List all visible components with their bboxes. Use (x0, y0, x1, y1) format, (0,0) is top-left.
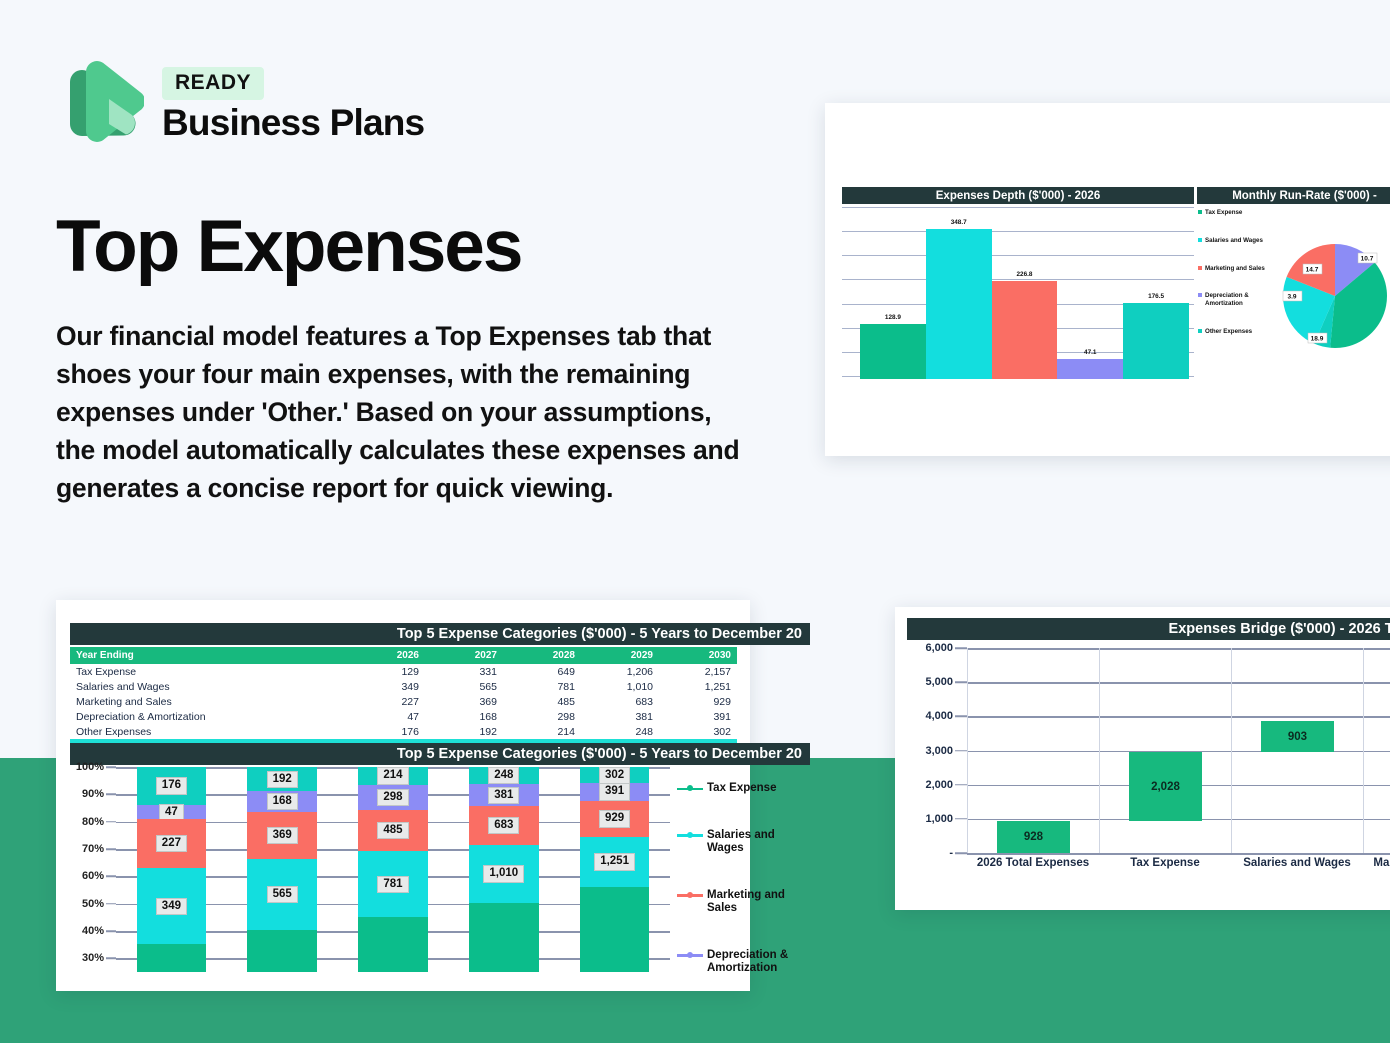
segment-value-label: 565 (267, 886, 298, 903)
stacked-bar: 214298485781 (358, 767, 428, 972)
stacked-series: 1764722734919216836956521429848578124838… (116, 767, 670, 972)
table-cell: 2,157 (659, 664, 737, 679)
table-col-header: 2027 (425, 647, 503, 664)
stacked-bar-chart: 100%90%80%70%60%50%40%30% 17647227349192… (70, 767, 670, 989)
segment-value-label: 176 (156, 777, 187, 794)
stack-segment: 369 (247, 812, 317, 859)
waterfall-bar: 903 (1261, 721, 1334, 752)
y-tick-label: 40% (82, 925, 104, 937)
stack-segment: 227 (137, 819, 207, 868)
y-tick (955, 647, 967, 649)
pie-data-label: 18.9 (1308, 333, 1327, 343)
row-label: Tax Expense (70, 664, 347, 679)
table-col-header: Year Ending (70, 647, 347, 664)
bar (860, 324, 926, 379)
pie-data-label: 10.7 (1358, 253, 1377, 263)
y-tick (106, 876, 116, 878)
y-tick-label: 1,000 (925, 813, 953, 825)
panel-title-stacked-chart: Top 5 Expense Categories ($'000) - 5 Yea… (70, 743, 810, 765)
expenses-bridge-card: Expenses Bridge ($'000) - 2026 Total Exp… (895, 607, 1390, 910)
legend-swatch (1198, 266, 1202, 270)
y-tick-label: 3,000 (925, 745, 953, 757)
stack-segment: 683 (469, 806, 539, 845)
stack-segment: 391 (580, 783, 650, 800)
segment-value-label: 168 (267, 793, 298, 810)
y-tick (106, 903, 116, 905)
segment-value-label: 391 (599, 783, 630, 800)
pie-data-label: 14.7 (1303, 264, 1322, 274)
segment-value-label: 1,010 (483, 865, 524, 882)
y-tick (955, 750, 967, 752)
waterfall-bar: 2,028 (1129, 752, 1202, 821)
table-cell: 391 (659, 709, 737, 724)
waterfall-column: 702 (1363, 648, 1390, 853)
table-cell: 369 (425, 694, 503, 709)
legend-item: Marketing and Sales (1198, 265, 1273, 273)
stack-segment: 349 (137, 868, 207, 944)
y-tick (955, 784, 967, 786)
table-cell: 298 (503, 709, 581, 724)
legend-label: Salaries and Wages (1205, 237, 1263, 245)
y-tick (106, 958, 116, 960)
y-tick-label: 5,000 (925, 676, 953, 688)
table-cell: 649 (503, 664, 581, 679)
x-tick-label: Tax Expense (1099, 857, 1231, 869)
row-label: Other Expenses (70, 724, 347, 739)
svg-text:18.9: 18.9 (1311, 336, 1324, 343)
svg-text:14.7: 14.7 (1306, 267, 1319, 274)
segment-value-label: 349 (156, 898, 187, 915)
bar-value-label: 47.1 (1084, 349, 1096, 356)
stack-segment (358, 917, 428, 972)
table-cell: 929 (659, 694, 737, 709)
stacked-column: 2483816831,010 (448, 767, 559, 972)
waterfall-column: 928 (967, 648, 1099, 853)
table-header-row: Year Ending20262027202820292030 (70, 647, 737, 664)
y-tick-label: 2,000 (925, 779, 953, 791)
legend-item: Salaries and Wages (1198, 237, 1273, 245)
x-tick-label: 2026 Total Expenses (967, 857, 1099, 869)
stack-segment: 176 (137, 767, 207, 805)
segment-value-label: 781 (377, 876, 408, 893)
legend-swatch (1198, 238, 1202, 242)
segment-value-label: 227 (156, 835, 187, 852)
bar-value-label: 128.9 (885, 314, 901, 321)
stacked-column: 192168369565 (227, 767, 338, 972)
bar-value-label: 928 (1024, 831, 1043, 843)
table-cell: 248 (581, 724, 659, 739)
svg-text:3.9: 3.9 (1287, 294, 1296, 301)
chart-legend: Tax ExpenseSalaries and WagesMarketing a… (1198, 209, 1273, 356)
bar-column: 47.1 (1057, 207, 1123, 379)
stacked-bar: 3023919291,251 (580, 767, 650, 972)
bar-column: 176.5 (1123, 207, 1189, 379)
stack-segment: 47 (137, 805, 207, 819)
stack-segment (247, 930, 317, 972)
panel-title-expenses-bridge: Expenses Bridge ($'000) - 2026 Total Exp… (907, 618, 1390, 640)
brand-logo: READY Business Plans (56, 58, 424, 153)
row-label: Depreciation & Amortization (70, 709, 347, 724)
stack-segment: 565 (247, 859, 317, 930)
stacked-column: 17647227349 (116, 767, 227, 972)
segment-value-label: 298 (377, 789, 408, 806)
y-tick (955, 716, 967, 718)
legend-label: Marketing and Sales (1205, 265, 1265, 273)
svg-text:10.7: 10.7 (1361, 256, 1374, 263)
y-tick-label: 100% (76, 761, 104, 773)
table-cell: 214 (503, 724, 581, 739)
legend-label: Depreciation & Amortization (707, 949, 792, 976)
y-tick-label: 30% (82, 952, 104, 964)
segment-value-label: 302 (599, 767, 630, 784)
row-label: Marketing and Sales (70, 694, 347, 709)
row-label: Salaries and Wages (70, 679, 347, 694)
stack-segment: 168 (247, 791, 317, 812)
stack-segment: 485 (358, 810, 428, 851)
y-tick-label: - (949, 847, 953, 859)
waterfall-column: 903 (1231, 648, 1363, 853)
chart-legend: Tax ExpenseSalaries and WagesMarketing a… (677, 782, 792, 1009)
stacked-column: 3023919291,251 (559, 767, 670, 972)
table-col-header: 2028 (503, 647, 581, 664)
expenses-depth-bar-chart: 128.9348.7226.847.1176.5 (842, 207, 1194, 379)
stacked-column: 214298485781 (338, 767, 449, 972)
table-row: Tax Expense1293316491,2062,157 (70, 664, 737, 679)
table-cell: 331 (425, 664, 503, 679)
bar-value-label: 2,028 (1151, 781, 1180, 793)
legend-item: Tax Expense (1198, 209, 1273, 217)
panel-title-monthly-run-rate: Monthly Run-Rate ($'000) - (1197, 187, 1390, 204)
pie-data-label: 3.9 (1283, 291, 1302, 301)
table-row: Salaries and Wages3495657811,0101,251 (70, 679, 737, 694)
stack-segment (137, 944, 207, 972)
table-cell: 47 (347, 709, 425, 724)
y-tick-label: 4,000 (925, 710, 953, 722)
legend-item: Tax Expense (677, 782, 792, 796)
legend-item: Salaries and Wages (677, 829, 792, 856)
segment-value-label: 381 (488, 787, 519, 804)
stack-segment: 298 (358, 785, 428, 810)
y-axis-labels: 100%90%80%70%60%50%40%30% (70, 767, 116, 972)
y-tick-label: 50% (82, 898, 104, 910)
table-col-header: 2029 (581, 647, 659, 664)
table-cell: 1,206 (581, 664, 659, 679)
table-cell: 302 (659, 724, 737, 739)
waterfall-chart: 6,0005,0004,0003,0002,0001,000- 9282,028… (907, 648, 1390, 898)
bar (1123, 303, 1189, 379)
stacked-bar: 2483816831,010 (469, 767, 539, 972)
brand-name: Business Plans (162, 102, 424, 144)
waterfall-bar: 928 (997, 821, 1070, 853)
legend-swatch (1198, 329, 1202, 333)
y-tick (955, 852, 967, 854)
y-tick (955, 681, 967, 683)
panel-title-expenses-depth: Expenses Depth ($'000) - 2026 (842, 187, 1194, 204)
y-axis-labels: 6,0005,0004,0003,0002,0001,000- (907, 648, 967, 853)
legend-item: Depreciation & Amortization (1198, 292, 1273, 308)
table-col-header: 2026 (347, 647, 425, 664)
bar (926, 229, 992, 379)
bar-value-label: 903 (1288, 731, 1307, 743)
stack-segment: 214 (358, 767, 428, 785)
panel-title-table: Top 5 Expense Categories ($'000) - 5 Yea… (70, 623, 810, 645)
bar-value-label: 176.5 (1148, 293, 1164, 300)
table-row: Other Expenses176192214248302 (70, 724, 737, 739)
table-row: Depreciation & Amortization4716829838139… (70, 709, 737, 724)
legend-label: Marketing and Sales (707, 889, 792, 916)
legend-label: Other Expenses (1205, 328, 1252, 336)
y-tick-label: 60% (82, 870, 104, 882)
y-tick (955, 818, 967, 820)
table-col-header: 2030 (659, 647, 737, 664)
segment-value-label: 485 (377, 822, 408, 839)
x-tick-label: Marketing and Sales (1363, 857, 1390, 869)
segment-value-label: 214 (377, 767, 408, 784)
monthly-run-rate-pie-chart: 10.714.73.918.9 (1279, 231, 1390, 366)
legend-item: Depreciation & Amortization (677, 949, 792, 976)
legend-label: Tax Expense (1205, 209, 1242, 217)
bar-column: 226.8 (992, 207, 1058, 379)
table-cell: 168 (425, 709, 503, 724)
stack-segment: 781 (358, 851, 428, 917)
bar-column: 128.9 (860, 207, 926, 379)
legend-label: Salaries and Wages (707, 829, 792, 856)
stacked-bar: 17647227349 (137, 767, 207, 972)
y-tick-label: 6,000 (925, 642, 953, 654)
bar (992, 281, 1058, 379)
y-tick (106, 821, 116, 823)
segment-value-label: 248 (488, 767, 519, 784)
table-cell: 1,010 (581, 679, 659, 694)
bar-value-label: 226.8 (1016, 271, 1032, 278)
table-cell: 683 (581, 694, 659, 709)
legend-label: Tax Expense (707, 782, 776, 796)
table-cell: 349 (347, 679, 425, 694)
legend-label: Depreciation & Amortization (1205, 292, 1273, 308)
page-body-text: Our financial model features a Top Expen… (56, 318, 756, 507)
y-tick (106, 848, 116, 850)
table-row: Marketing and Sales227369485683929 (70, 694, 737, 709)
y-tick (106, 766, 116, 768)
table-cell: 176 (347, 724, 425, 739)
stack-segment: 1,010 (469, 845, 539, 903)
y-tick-label: 90% (82, 788, 104, 800)
stack-segment: 929 (580, 801, 650, 838)
x-axis-labels: 2026 Total ExpensesTax ExpenseSalaries a… (967, 857, 1390, 869)
table-cell: 129 (347, 664, 425, 679)
bar-series: 128.9348.7226.847.1176.5 (860, 207, 1189, 379)
legend-item: Marketing and Sales (677, 889, 792, 916)
waterfall-column: 2,028 (1099, 648, 1231, 853)
table-cell: 227 (347, 694, 425, 709)
table-cell: 1,251 (659, 679, 737, 694)
legend-swatch (1198, 293, 1202, 297)
legend-marker (677, 783, 703, 794)
stack-segment (580, 887, 650, 972)
stack-segment (469, 903, 539, 972)
table-cell: 485 (503, 694, 581, 709)
bar (1057, 359, 1123, 379)
plot-area: 1764722734919216836956521429848578124838… (116, 767, 670, 972)
top-panel-titles: Expenses Depth ($'000) - 2026 Monthly Ru… (842, 187, 1390, 204)
segment-value-label: 929 (599, 810, 630, 827)
segment-value-label: 369 (267, 827, 298, 844)
top5-expense-categories-card: Top 5 Expense Categories ($'000) - 5 Yea… (56, 600, 750, 991)
ready-badge: READY (162, 67, 264, 100)
stack-segment: 192 (247, 767, 317, 791)
stack-segment: 1,251 (580, 837, 650, 886)
legend-marker (677, 890, 703, 901)
plot-area: 9282,028903702 (967, 648, 1390, 853)
stack-segment: 381 (469, 784, 539, 806)
bar-column: 348.7 (926, 207, 992, 379)
stacked-bar: 192168369565 (247, 767, 317, 972)
waterfall-bars: 9282,028903702 (967, 648, 1390, 853)
x-tick-label: Salaries and Wages (1231, 857, 1363, 869)
segment-value-label: 683 (488, 817, 519, 834)
legend-marker (677, 950, 703, 961)
table-cell: 565 (425, 679, 503, 694)
expense-table: Year Ending20262027202820292030 Tax Expe… (70, 647, 737, 757)
stack-segment: 248 (469, 767, 539, 784)
legend-item: Other Expenses (1198, 328, 1273, 336)
table-cell: 381 (581, 709, 659, 724)
y-tick-label: 70% (82, 843, 104, 855)
y-tick (106, 930, 116, 932)
bar-value-label: 348.7 (951, 219, 967, 226)
legend-swatch (1198, 210, 1202, 214)
table-cell: 192 (425, 724, 503, 739)
y-tick (106, 794, 116, 796)
table-cell: 781 (503, 679, 581, 694)
y-tick-label: 80% (82, 816, 104, 828)
segment-value-label: 1,251 (594, 853, 635, 870)
page-title: Top Expenses (56, 205, 522, 288)
segment-value-label: 192 (267, 771, 298, 788)
stack-segment: 302 (580, 767, 650, 783)
play-logo-icon (56, 58, 144, 153)
legend-marker (677, 830, 703, 841)
